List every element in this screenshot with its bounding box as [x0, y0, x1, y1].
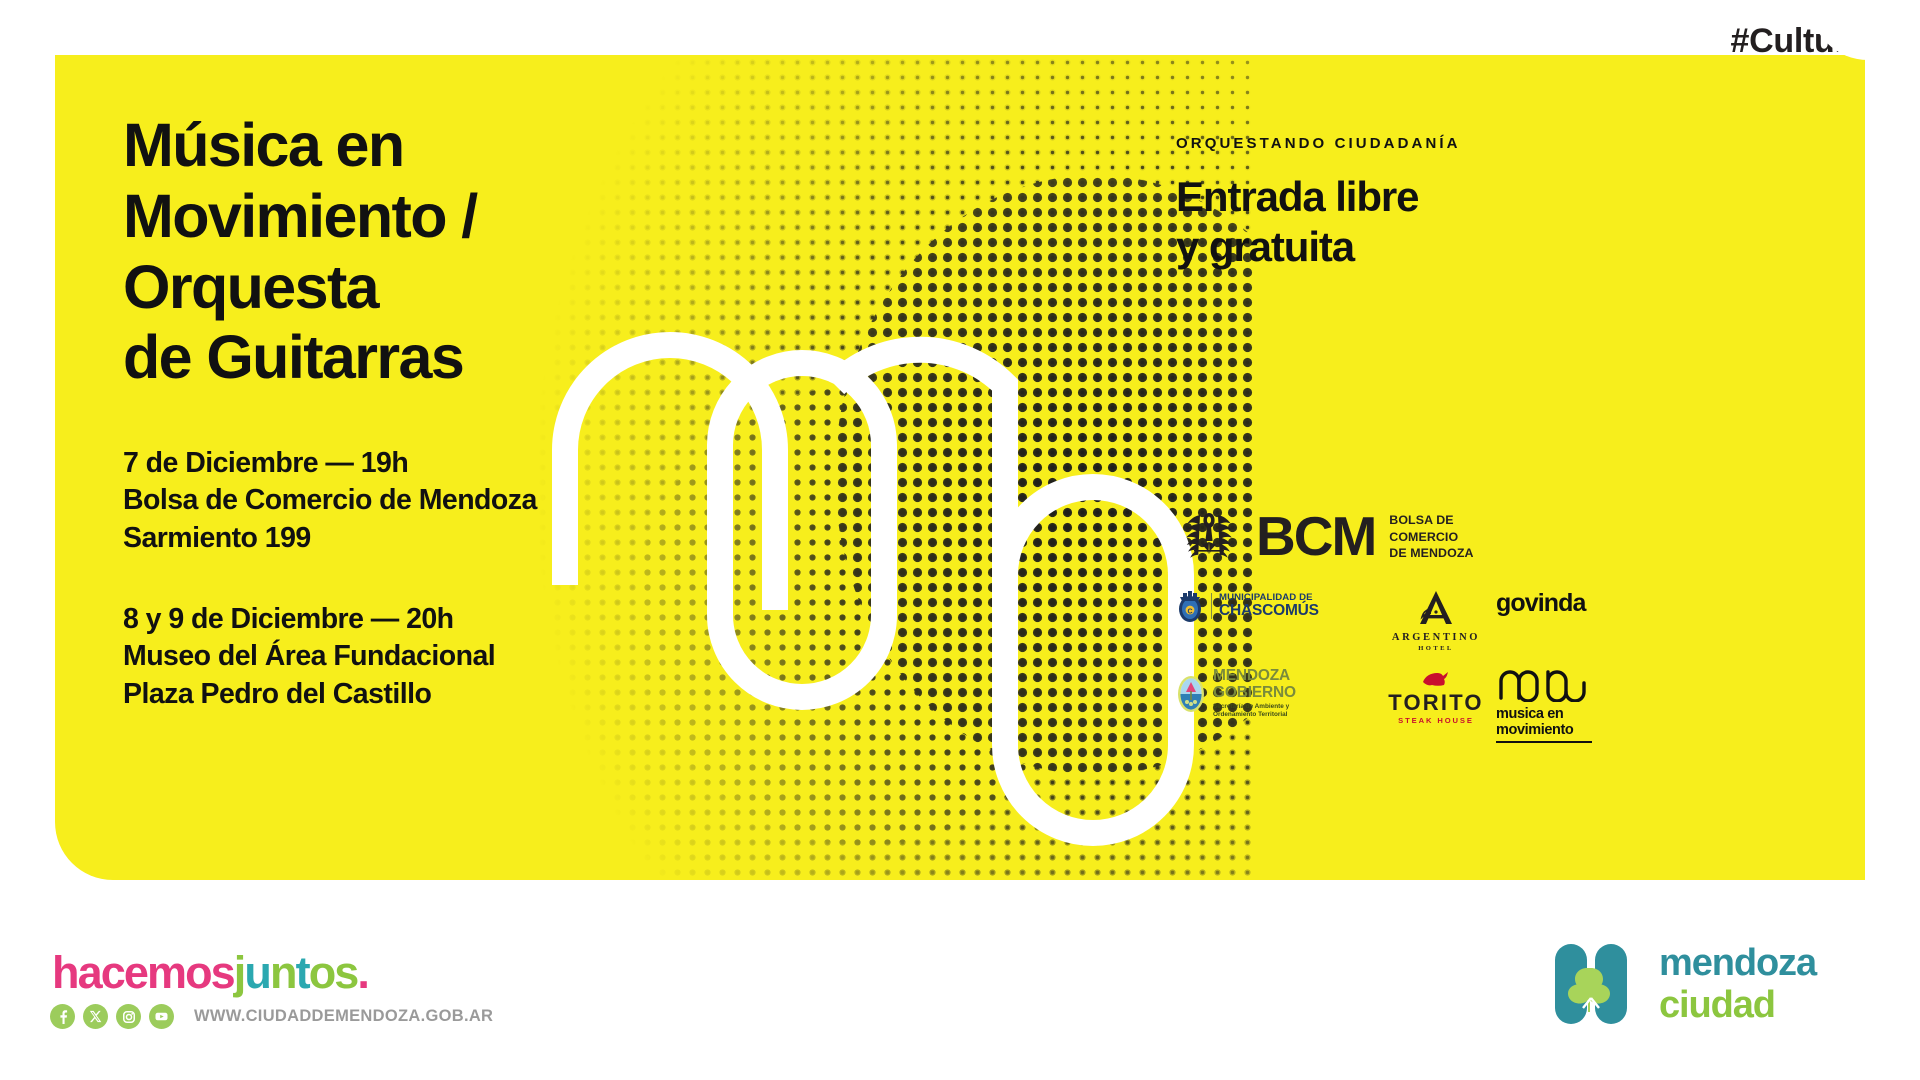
event-1-address: Sarmiento 199 — [123, 520, 643, 557]
halftone-ribbon-artwork — [535, 55, 1255, 880]
mendoza-gobierno-line2: GOBIERNO — [1213, 685, 1296, 701]
event-2-date: 8 y 9 de Diciembre — 20h — [123, 601, 643, 638]
right-content-column: ORQUESTANDO CIUDADANÍA Entrada libre y g… — [1176, 135, 1616, 271]
social-links: WWW.CIUDADDEMENDOZA.GOB.AR — [50, 1004, 493, 1029]
logo-cell-argentino-hotel: ARGENTINO HOTEL — [1376, 589, 1496, 652]
bcm-subtitle: BOLSA DE COMERCIO DE MENDOZA — [1389, 510, 1473, 561]
chascomus-crest-icon: C — [1176, 589, 1204, 623]
logo-cell-mendoza-gobierno: MENDOZA GOBIERNO Secretaría de Ambiente … — [1176, 668, 1376, 719]
hj-part-4: n — [270, 947, 296, 998]
hj-part-3: u — [244, 947, 270, 998]
event-block-2: 8 y 9 de Diciembre — 20h Museo del Área … — [123, 601, 643, 713]
facebook-icon[interactable] — [50, 1004, 75, 1029]
sponsor-logo-grid: C MUNICIPALIDAD DE CHASCOMÚS — [1176, 589, 1646, 743]
mendoza-gobierno-line3: Secretaría de Ambiente y Ordenamiento Te… — [1213, 703, 1296, 719]
chascomus-line2: CHASCOMÚS — [1219, 603, 1319, 619]
bcm-condor-icon — [1176, 505, 1242, 567]
govinda-wordmark: govinda — [1496, 589, 1586, 618]
website-url: WWW.CIUDADDEMENDOZA.GOB.AR — [194, 1007, 493, 1026]
hj-part-1: hacemos — [52, 947, 234, 998]
argentino-hotel-monogram-icon — [1410, 589, 1462, 627]
event-1-venue: Bolsa de Comercio de Mendoza — [123, 482, 643, 519]
mendoza-ciudad-mark-icon — [1545, 938, 1637, 1030]
eyebrow-label: ORQUESTANDO CIUDADANÍA — [1176, 135, 1616, 152]
hacemos-juntos-wordmark: hacemosjuntos. — [52, 950, 368, 995]
torito-line2: STEAK HOUSE — [1388, 717, 1484, 725]
mendoza-gobierno-line1: MENDOZA — [1213, 668, 1296, 684]
page-title: Música en Movimiento / Orquesta de Guita… — [123, 110, 643, 393]
svg-text:C: C — [1187, 609, 1192, 616]
logo-cell-govinda: govinda — [1496, 589, 1636, 618]
instagram-icon[interactable] — [116, 1004, 141, 1029]
youtube-icon[interactable] — [149, 1004, 174, 1029]
sponsor-logos: BCM BOLSA DE COMERCIO DE MENDOZA C — [1176, 505, 1646, 743]
logo-cell-chascomus: C MUNICIPALIDAD DE CHASCOMÚS — [1176, 589, 1376, 623]
event-2-address: Plaza Pedro del Castillo — [123, 676, 643, 713]
torito-bull-icon — [1417, 668, 1455, 688]
torito-line1: TORITO — [1388, 692, 1484, 714]
hj-part-7: . — [357, 947, 368, 998]
x-twitter-icon[interactable] — [83, 1004, 108, 1029]
musica-en-movimiento-loop-icon — [1496, 668, 1592, 702]
hj-part-2: j — [234, 947, 245, 998]
mendoza-ciudad-line1: mendoza — [1659, 944, 1816, 982]
logo-cell-torito: TORITO STEAK HOUSE — [1376, 668, 1496, 725]
poster-canvas: #Cultura — [0, 0, 1920, 1080]
left-content-column: Música en Movimiento / Orquesta de Guita… — [123, 110, 643, 713]
event-2-venue: Museo del Área Fundacional — [123, 638, 643, 675]
mendoza-ciudad-logo: mendoza ciudad — [1545, 938, 1816, 1030]
logo-cell-musica-en-movimiento: musica en movimiento — [1496, 668, 1636, 743]
event-block-1: 7 de Diciembre — 19h Bolsa de Comercio d… — [123, 445, 643, 557]
event-1-date: 7 de Diciembre — 19h — [123, 445, 643, 482]
bcm-logo: BCM BOLSA DE COMERCIO DE MENDOZA — [1176, 505, 1646, 567]
yellow-card: Música en Movimiento / Orquesta de Guita… — [55, 55, 1865, 880]
bcm-wordmark: BCM — [1256, 509, 1375, 564]
argentino-hotel-line2: HOTEL — [1392, 646, 1480, 653]
musica-en-movimiento-wordmark: musica en movimiento — [1496, 706, 1592, 738]
mendoza-gobierno-shield-icon — [1176, 674, 1206, 714]
hj-part-6: os — [309, 947, 358, 998]
admission-headline: Entrada libre y gratuita — [1176, 172, 1616, 271]
musica-en-movimiento-rule — [1496, 741, 1592, 744]
hj-part-5: t — [296, 947, 309, 998]
mendoza-ciudad-line2: ciudad — [1659, 986, 1816, 1024]
argentino-hotel-line1: ARGENTINO — [1392, 633, 1480, 644]
